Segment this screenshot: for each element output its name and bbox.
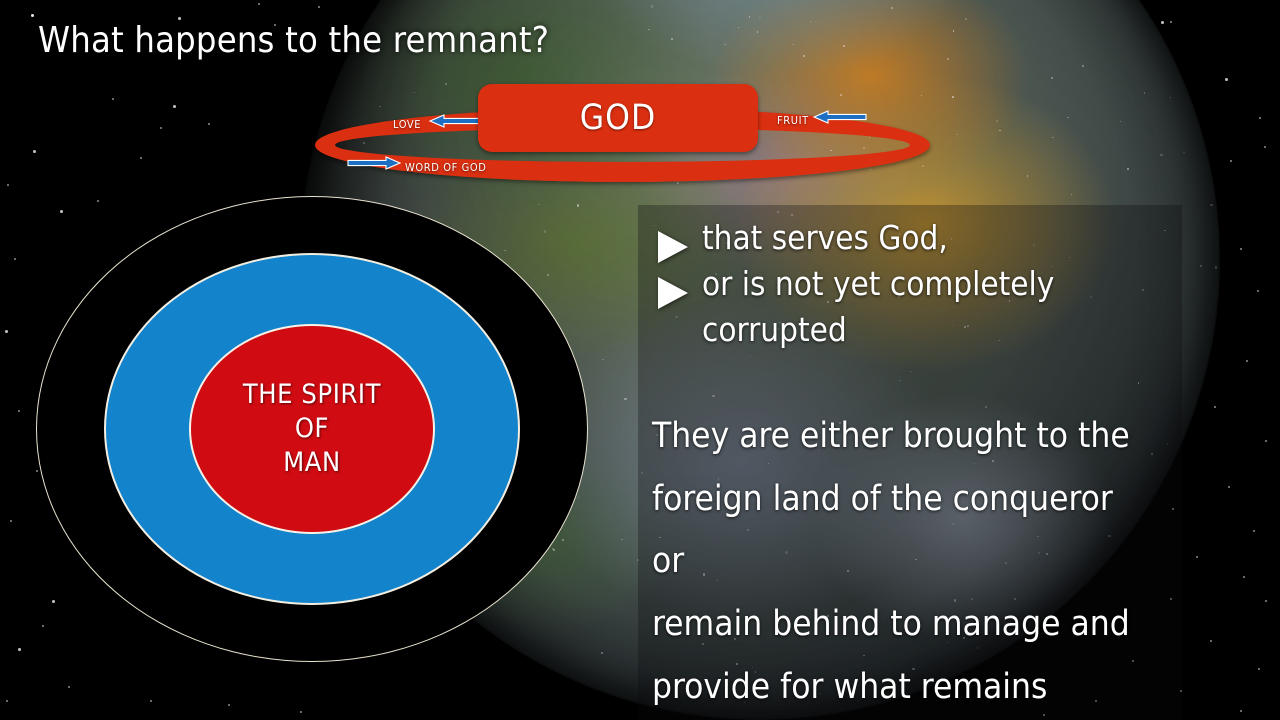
god-label: GOD xyxy=(580,98,656,138)
body-paragraph: They are either brought to the foreign l… xyxy=(652,405,1182,718)
bullet-list: that serves God, or is not yet completel… xyxy=(650,219,1170,357)
inner-circle: THE SPIRIT OF MAN xyxy=(189,324,435,534)
ring-label-fruit: FRUIT xyxy=(777,114,809,127)
bullet-continuation-label: corrupted xyxy=(702,311,847,349)
bullet-label-1: that serves God, xyxy=(702,219,948,257)
ring-label-word-of-god: WORD OF GOD xyxy=(405,161,487,174)
arrow-left-fruit-icon xyxy=(812,110,868,122)
ring-label-love: LOVE xyxy=(393,118,421,131)
body-line-2: foreign land of the conqueror xyxy=(652,468,1182,531)
spirit-line-1: THE SPIRIT xyxy=(243,378,381,412)
body-line-4: remain behind to manage and xyxy=(652,593,1182,656)
slide-canvas: What happens to the remnant? LOVE WORD O… xyxy=(0,0,1280,720)
body-line-3: or xyxy=(652,530,1182,593)
spirit-line-2: OF xyxy=(295,412,329,446)
arrow-left-icon xyxy=(428,114,484,126)
list-item-continuation: corrupted xyxy=(650,311,1170,355)
spirit-of-man-diagram: THE SPIRIT OF MAN xyxy=(36,196,588,662)
bullet-label-2: or is not yet completely xyxy=(702,265,1054,303)
list-item: or is not yet completely xyxy=(650,265,1170,309)
explanation-panel: that serves God, or is not yet completel… xyxy=(638,205,1182,720)
list-item: that serves God, xyxy=(650,219,1170,263)
body-line-1: They are either brought to the xyxy=(652,405,1182,468)
triangle-right-icon xyxy=(658,231,688,263)
triangle-right-icon xyxy=(658,277,688,309)
spirit-line-3: MAN xyxy=(283,446,341,480)
page-title: What happens to the remnant? xyxy=(38,20,549,61)
god-label-box: GOD xyxy=(478,84,758,152)
body-line-5: provide for what remains xyxy=(652,656,1182,719)
god-cycle-diagram: LOVE WORD OF GOD FRUIT GOD xyxy=(315,84,930,189)
arrow-right-icon xyxy=(346,156,402,168)
